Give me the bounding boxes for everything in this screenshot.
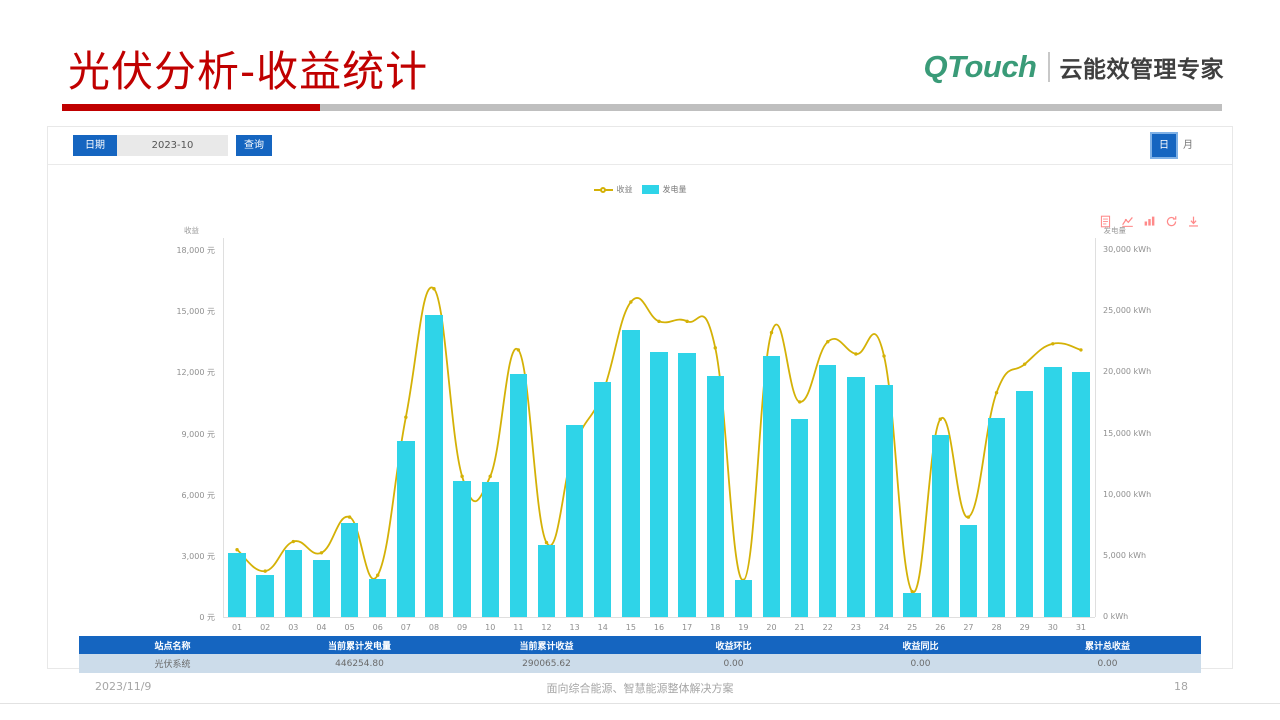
chart-bar[interactable]	[313, 560, 330, 617]
chart-bar[interactable]	[847, 377, 864, 617]
x-axis-line	[223, 617, 1095, 618]
x-axis-tick: 10	[476, 623, 504, 632]
chart-bar[interactable]	[678, 353, 695, 617]
footer-subtitle: 面向综合能源、智慧能源整体解决方案	[0, 680, 1280, 696]
x-axis-tick: 23	[842, 623, 870, 632]
revenue-line-point	[1023, 362, 1026, 365]
chart-bar[interactable]	[1072, 372, 1089, 617]
left-axis-line	[223, 238, 224, 617]
footer-page-number: 18	[1174, 680, 1188, 693]
x-axis-tick: 17	[673, 623, 701, 632]
right-axis-tick: 0 kWh	[1103, 612, 1183, 621]
revenue-line-point	[714, 346, 717, 349]
x-axis-tick: 16	[645, 623, 673, 632]
chart-bar[interactable]	[791, 419, 808, 617]
revenue-line-point	[1079, 348, 1082, 351]
chart-bar[interactable]	[763, 356, 780, 617]
right-axis-tick: 30,000 kWh	[1103, 245, 1183, 254]
revenue-line-point	[404, 415, 407, 418]
table-column-header: 收益同比	[827, 636, 1014, 654]
x-axis-tick: 24	[870, 623, 898, 632]
chart-bar[interactable]	[875, 385, 892, 617]
right-axis-tick: 10,000 kWh	[1103, 490, 1183, 499]
granularity-month-button[interactable]: 月	[1176, 134, 1200, 157]
revenue-line-point	[348, 515, 351, 518]
right-axis-tick: 20,000 kWh	[1103, 367, 1183, 376]
revenue-line-point	[292, 540, 295, 543]
x-axis-tick: 29	[1011, 623, 1039, 632]
chart-bar[interactable]	[369, 579, 386, 617]
chart-bar[interactable]	[988, 418, 1005, 617]
revenue-line-point	[882, 354, 885, 357]
chart-bar[interactable]	[228, 553, 245, 617]
revenue-line-point	[629, 300, 632, 303]
chart-bar[interactable]	[735, 580, 752, 617]
chart-plot-area: 0 元3,000 元6,000 元9,000 元12,000 元15,000 元…	[48, 165, 1232, 633]
revenue-line-point	[432, 287, 435, 290]
revenue-line-point	[489, 475, 492, 478]
right-axis-tick: 5,000 kWh	[1103, 551, 1183, 560]
chart-bar[interactable]	[622, 330, 639, 617]
x-axis-tick: 05	[336, 623, 364, 632]
title-divider	[62, 104, 1222, 111]
x-axis-tick: 11	[504, 623, 532, 632]
chart-bar[interactable]	[510, 374, 527, 617]
chart-bar[interactable]	[453, 481, 470, 617]
x-axis-tick: 15	[617, 623, 645, 632]
x-axis-tick: 31	[1067, 623, 1095, 632]
chart-bar[interactable]	[425, 315, 442, 617]
brand-logo: QTouch 云能效管理专家	[924, 48, 1224, 86]
table-column-header: 收益环比	[640, 636, 827, 654]
table-cell: 光伏系统	[79, 654, 266, 673]
x-axis-tick: 06	[364, 623, 392, 632]
right-axis-tick: 25,000 kWh	[1103, 306, 1183, 315]
x-axis-tick: 14	[589, 623, 617, 632]
chart-region: 收益 发电量	[48, 165, 1232, 633]
title-divider-gray	[320, 104, 1222, 111]
app-panel: 日期 2023-10 查询 日 月 收益 发电量	[47, 126, 1233, 669]
revenue-line-point	[939, 418, 942, 421]
revenue-line-point	[770, 331, 773, 334]
x-axis-tick: 03	[279, 623, 307, 632]
x-axis-tick: 26	[926, 623, 954, 632]
chart-bar[interactable]	[650, 352, 667, 617]
chart-bar[interactable]	[397, 441, 414, 617]
x-axis-tick: 22	[814, 623, 842, 632]
chart-bar[interactable]	[482, 482, 499, 617]
table-cell: 446254.80	[266, 654, 453, 673]
title-divider-red	[62, 104, 320, 111]
chart-bar[interactable]	[932, 435, 949, 617]
x-axis-tick: 21	[786, 623, 814, 632]
table-cell: 0.00	[1014, 654, 1201, 673]
x-axis-tick: 01	[223, 623, 251, 632]
x-axis-tick: 25	[898, 623, 926, 632]
chart-bar[interactable]	[538, 545, 555, 617]
chart-bar[interactable]	[707, 376, 724, 617]
chart-bar[interactable]	[819, 365, 836, 617]
brand-tagline: 云能效管理专家	[1060, 50, 1225, 84]
chart-bar[interactable]	[256, 575, 273, 617]
table-cell: 290065.62	[453, 654, 640, 673]
revenue-line-point	[320, 551, 323, 554]
query-button[interactable]: 查询	[236, 135, 272, 156]
x-axis-tick: 18	[701, 623, 729, 632]
x-axis-tick: 28	[983, 623, 1011, 632]
page-title: 光伏分析-收益统计	[68, 38, 428, 99]
chart-bar[interactable]	[1044, 367, 1061, 617]
revenue-line-point	[798, 400, 801, 403]
right-axis-tick: 15,000 kWh	[1103, 429, 1183, 438]
x-axis-tick: 12	[532, 623, 560, 632]
revenue-line-point	[545, 541, 548, 544]
x-axis-tick: 09	[448, 623, 476, 632]
table-column-header: 当前累计收益	[453, 636, 640, 654]
x-axis-tick: 30	[1039, 623, 1067, 632]
date-input[interactable]: 2023-10	[117, 135, 228, 156]
left-axis-tick: 18,000 元	[145, 245, 215, 256]
revenue-line-point	[1051, 342, 1054, 345]
filter-toolbar: 日期 2023-10 查询 日 月	[48, 127, 1232, 165]
x-axis-tick: 02	[251, 623, 279, 632]
chart-bar[interactable]	[285, 550, 302, 617]
revenue-line-point	[263, 569, 266, 572]
table-column-header: 当前累计发电量	[266, 636, 453, 654]
x-axis-tick: 08	[420, 623, 448, 632]
right-axis-line	[1095, 238, 1096, 617]
revenue-line-point	[376, 574, 379, 577]
summary-table: 站点名称当前累计发电量当前累计收益收益环比收益同比累计总收益 光伏系统44625…	[79, 636, 1201, 673]
table-body: 光伏系统446254.80290065.620.000.000.00	[79, 654, 1201, 673]
x-axis-tick: 19	[729, 623, 757, 632]
x-axis-tick: 13	[561, 623, 589, 632]
left-axis-tick: 12,000 元	[145, 367, 215, 378]
revenue-line-point	[235, 548, 238, 551]
date-label-button[interactable]: 日期	[73, 135, 117, 156]
table-header-row: 站点名称当前累计发电量当前累计收益收益环比收益同比累计总收益	[79, 636, 1201, 654]
chart-bar[interactable]	[594, 382, 611, 617]
revenue-line-point	[657, 320, 660, 323]
slide-root: 光伏分析-收益统计 QTouch 云能效管理专家 日期 2023-10 查询 日…	[0, 0, 1280, 720]
x-axis-tick: 07	[392, 623, 420, 632]
left-axis-tick: 0 元	[145, 612, 215, 623]
chart-bar[interactable]	[1016, 391, 1033, 617]
chart-bar[interactable]	[341, 523, 358, 617]
revenue-line-point	[995, 391, 998, 394]
brand-name: QTouch	[924, 49, 1037, 85]
table-cell: 0.00	[640, 654, 827, 673]
x-axis-tick: 20	[758, 623, 786, 632]
chart-bar[interactable]	[903, 593, 920, 617]
x-axis-tick: 04	[307, 623, 335, 632]
chart-bar[interactable]	[960, 525, 977, 617]
footer-divider	[0, 703, 1280, 704]
table-row[interactable]: 光伏系统446254.80290065.620.000.000.00	[79, 654, 1201, 673]
revenue-line-point	[685, 320, 688, 323]
brand-divider	[1048, 52, 1050, 82]
table-column-header: 累计总收益	[1014, 636, 1201, 654]
revenue-line-point	[460, 475, 463, 478]
chart-bar[interactable]	[566, 425, 583, 617]
revenue-line-point	[967, 515, 970, 518]
granularity-toggle: 日 月	[1152, 134, 1200, 157]
left-axis-tick: 15,000 元	[145, 306, 215, 317]
granularity-day-button[interactable]: 日	[1152, 134, 1176, 157]
left-axis-tick: 9,000 元	[145, 429, 215, 440]
table-column-header: 站点名称	[79, 636, 266, 654]
table-cell: 0.00	[827, 654, 1014, 673]
left-axis-tick: 3,000 元	[145, 551, 215, 562]
revenue-line-point	[854, 352, 857, 355]
revenue-line-point	[517, 348, 520, 351]
revenue-line-point	[826, 340, 829, 343]
x-axis-tick: 27	[954, 623, 982, 632]
left-axis-tick: 6,000 元	[145, 490, 215, 501]
